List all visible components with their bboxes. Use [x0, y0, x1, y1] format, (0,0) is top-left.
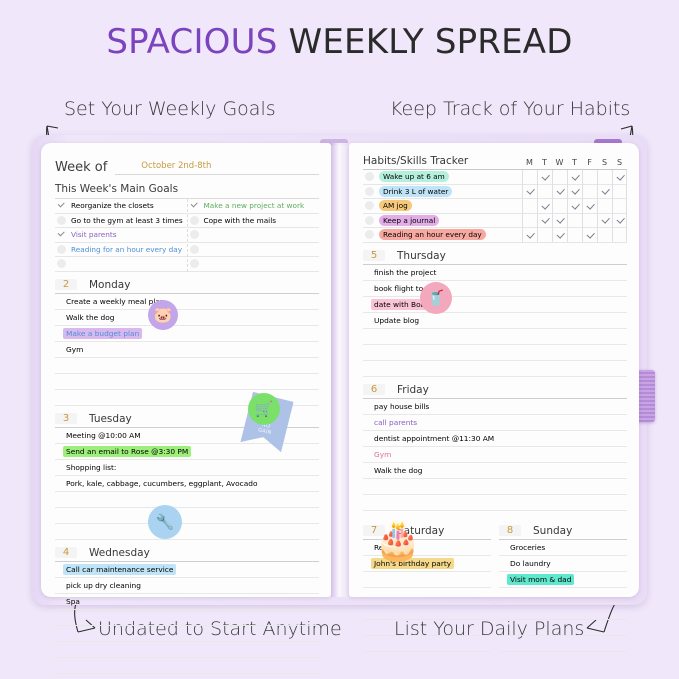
checkmark-icon[interactable]	[190, 201, 199, 210]
task-text: Shopping list:	[63, 462, 119, 473]
task-text: call parents	[371, 417, 420, 428]
habit-name: Keep a journal	[379, 215, 439, 226]
notebook: Week of October 2nd-8th This Week's Main…	[32, 135, 647, 605]
day-header: 6Friday	[363, 384, 627, 399]
day-name: Thursday	[397, 250, 446, 262]
task-text: Send an email to Rose @3:30 PM	[63, 446, 191, 457]
task-text	[371, 578, 377, 580]
habit-cell-empty[interactable]	[597, 228, 612, 243]
task-line[interactable]	[363, 495, 627, 511]
habit-label-cell: AM jog	[363, 200, 522, 211]
habit-day-initial: M	[522, 158, 537, 167]
checkbox-empty-icon[interactable]	[365, 201, 374, 210]
habit-check-cells	[522, 213, 627, 228]
habit-checkmark-icon[interactable]	[597, 184, 612, 199]
task-text	[507, 626, 513, 628]
task-line[interactable]: date with Bob	[363, 297, 627, 313]
task-text: Update blog	[371, 315, 422, 326]
weekend-col: 8SundayGroceriesDo laundryVisit mom & da…	[499, 518, 627, 652]
task-line[interactable]: Create a weekly meal plan	[55, 294, 319, 310]
task-line[interactable]: dentist appointment @11:30 AM	[363, 431, 627, 447]
habit-cell-empty[interactable]	[552, 170, 567, 185]
checkbox-empty-icon[interactable]	[57, 245, 66, 254]
day-number: 2	[55, 279, 77, 290]
habit-checkmark-icon[interactable]	[522, 228, 537, 243]
goal-label: Cope with the mails	[204, 216, 277, 225]
task-text	[371, 626, 377, 628]
habit-cell-empty[interactable]	[537, 184, 552, 199]
goal-row[interactable]: Visit parents	[55, 228, 187, 243]
checkbox-empty-icon[interactable]	[190, 230, 199, 239]
habit-cell-empty[interactable]	[582, 184, 597, 199]
task-text	[371, 485, 377, 487]
habit-row[interactable]: Wake up at 6 am	[363, 170, 627, 185]
habits-header: Habits/Skills Tracker MTWTFSS	[363, 155, 627, 170]
habit-label-cell: Drink 3 L of water	[363, 186, 522, 197]
habit-cell-empty[interactable]	[582, 213, 597, 228]
task-line[interactable]	[363, 329, 627, 345]
task-line[interactable]: Do laundry	[499, 556, 627, 572]
day-header: 8Sunday	[499, 525, 627, 540]
task-text	[371, 367, 377, 369]
habit-checkmark-icon[interactable]	[552, 228, 567, 243]
task-text: Walk the dog	[371, 465, 425, 476]
goal-label: Make a new project at work	[204, 201, 305, 210]
task-text	[371, 610, 377, 612]
task-line[interactable]: Call car maintenance service	[55, 562, 319, 578]
goal-row[interactable]: Reading for an hour every day	[55, 243, 187, 258]
task-line[interactable]: Pork, kale, cabbage, cucumbers, eggplant…	[55, 476, 319, 492]
goal-label: Visit parents	[71, 230, 117, 239]
habit-checkmark-icon[interactable]	[537, 199, 552, 214]
habit-checkmark-icon[interactable]	[582, 228, 597, 243]
task-text: Walk the dog	[63, 312, 117, 323]
page-title-rest: WEEKLY SPREAD	[289, 22, 573, 62]
habit-cell-empty[interactable]	[522, 213, 537, 228]
day-block-thursday: 5Thursdayfinish the projectbook flight t…	[363, 250, 627, 377]
task-line[interactable]	[55, 642, 319, 658]
goal-label: Go to the gym at least 3 times	[71, 216, 183, 225]
right-day-blocks: 5Thursdayfinish the projectbook flight t…	[363, 250, 627, 511]
habit-cell-empty[interactable]	[552, 199, 567, 214]
day-lines: finish the projectbook flight to LAdate …	[363, 265, 627, 377]
checkbox-empty-icon[interactable]	[365, 230, 374, 239]
habit-checkmark-icon[interactable]	[537, 170, 552, 185]
goal-row[interactable]	[188, 257, 320, 272]
habit-name: AM jog	[379, 200, 412, 211]
habit-day-initial: S	[612, 158, 627, 167]
happy-birthday-cake-sticker: 🎂	[370, 518, 426, 564]
task-line[interactable]	[363, 572, 491, 588]
habit-checkmark-icon[interactable]	[597, 213, 612, 228]
habit-checkmark-icon[interactable]	[552, 213, 567, 228]
day-name: Sunday	[533, 525, 572, 537]
habit-day-initial: F	[582, 158, 597, 167]
task-line[interactable]: Walk the dog	[363, 463, 627, 479]
goal-row[interactable]	[55, 257, 187, 272]
shopping-cart-sticker: 🛒	[248, 393, 280, 425]
task-line[interactable]: book flight to LA	[363, 281, 627, 297]
goal-row[interactable]	[188, 228, 320, 243]
task-text: Spa	[63, 596, 83, 607]
day-block-wednesday: 4WednesdayCall car maintenance servicepi…	[55, 547, 319, 674]
task-text	[371, 351, 377, 353]
checkmark-icon[interactable]	[57, 230, 66, 239]
task-line[interactable]: Gym	[55, 342, 319, 358]
task-line[interactable]	[55, 358, 319, 374]
day-lines: GroceriesDo laundryVisit mom & dad	[499, 540, 627, 652]
task-text: Call car maintenance service	[63, 564, 176, 575]
task-line[interactable]: Update blog	[363, 313, 627, 329]
habit-day-initial: T	[567, 158, 582, 167]
task-line[interactable]: pick up dry cleaning	[55, 578, 319, 594]
task-text: pay house bills	[371, 401, 432, 412]
checkbox-empty-icon[interactable]	[365, 216, 374, 225]
task-text	[63, 648, 69, 650]
task-line[interactable]	[55, 626, 319, 642]
task-line[interactable]: Groceries	[499, 540, 627, 556]
task-line[interactable]	[55, 374, 319, 390]
task-text: Meeting @10:00 AM	[63, 430, 144, 441]
habits-rows: Wake up at 6 amDrink 3 L of waterAM jogK…	[363, 170, 627, 243]
habit-checkmark-icon[interactable]	[612, 213, 627, 228]
task-text	[63, 632, 69, 634]
week-of-label: Week of	[55, 160, 107, 175]
day-header: 4Wednesday	[55, 547, 319, 562]
goals-column-right: Make a new project at workCope with the …	[188, 199, 320, 272]
habit-check-cells	[522, 199, 627, 214]
day-number: 3	[55, 413, 77, 424]
book-spine	[331, 143, 349, 597]
habit-checkmark-icon[interactable]	[552, 184, 567, 199]
day-name: Wednesday	[89, 547, 150, 559]
habit-row[interactable]: AM jog	[363, 199, 627, 214]
task-text	[371, 335, 377, 337]
checkbox-empty-icon[interactable]	[190, 216, 199, 225]
habit-check-cells	[522, 170, 627, 185]
task-line[interactable]	[55, 524, 319, 540]
habit-checkmark-icon[interactable]	[522, 184, 537, 199]
task-text: Visit mom & dad	[507, 574, 574, 585]
goal-row[interactable]: Reorganize the closets	[55, 199, 187, 214]
day-number: 5	[363, 250, 385, 261]
goal-row[interactable]	[188, 243, 320, 258]
goal-label: Reading for an hour every day	[71, 245, 182, 254]
habit-cell-empty[interactable]	[612, 228, 627, 243]
task-text	[371, 501, 377, 503]
task-line[interactable]: Visit mom & dad	[499, 572, 627, 588]
habit-label-cell: Wake up at 6 am	[363, 171, 522, 182]
task-line[interactable]	[499, 588, 627, 604]
habit-name: Wake up at 6 am	[379, 171, 449, 182]
task-text	[63, 514, 69, 516]
task-text	[63, 396, 69, 398]
task-line[interactable]: Make a budget plan	[55, 326, 319, 342]
habit-day-initial: T	[537, 158, 552, 167]
goal-row[interactable]: Make a new project at work	[188, 199, 320, 214]
day-name: Monday	[89, 279, 130, 291]
task-text	[507, 594, 513, 596]
habit-cell-empty[interactable]	[582, 170, 597, 185]
left-page: Week of October 2nd-8th This Week's Main…	[41, 143, 331, 597]
checkbox-empty-icon[interactable]	[365, 172, 374, 181]
task-line[interactable]: finish the project	[363, 265, 627, 281]
day-block-monday: 2MondayCreate a weekly meal planWalk the…	[55, 279, 319, 406]
habit-checkmark-icon[interactable]	[567, 184, 582, 199]
task-line[interactable]	[363, 636, 491, 652]
task-text	[63, 498, 69, 500]
day-number: 8	[499, 525, 521, 536]
task-text	[63, 664, 69, 666]
week-of-row: Week of October 2nd-8th	[55, 155, 319, 175]
habit-row[interactable]: Drink 3 L of water	[363, 185, 627, 200]
task-line[interactable]	[499, 604, 627, 620]
checkbox-empty-icon[interactable]	[57, 259, 66, 268]
habit-row[interactable]: Reading an hour every day	[363, 228, 627, 243]
goals-column-left: Reorganize the closetsGo to the gym at l…	[55, 199, 188, 272]
piggy-bank-sticker: 🐷	[148, 300, 178, 330]
habit-cell-empty[interactable]	[567, 228, 582, 243]
task-line[interactable]	[499, 636, 627, 652]
habit-checkmark-icon[interactable]	[582, 199, 597, 214]
habits-day-initials: MTWTFSS	[522, 158, 627, 167]
task-text: Groceries	[507, 542, 548, 553]
page-title-accent: SPACIOUS	[106, 22, 277, 62]
habits-heading: Habits/Skills Tracker	[363, 155, 522, 167]
task-text: Pork, kale, cabbage, cucumbers, eggplant…	[63, 478, 260, 489]
task-text: pick up dry cleaning	[63, 580, 144, 591]
task-text: finish the project	[371, 267, 439, 278]
task-text	[63, 364, 69, 366]
task-line[interactable]: Spa	[55, 594, 319, 610]
habit-cell-empty[interactable]	[612, 184, 627, 199]
day-block-sunday: 8SundayGroceriesDo laundryVisit mom & da…	[499, 525, 627, 652]
wrench-sticker: 🔧	[148, 505, 182, 539]
task-line[interactable]: Gym	[363, 447, 627, 463]
task-line[interactable]: call parents	[363, 415, 627, 431]
task-line[interactable]	[363, 361, 627, 377]
habit-cell-empty[interactable]	[567, 213, 582, 228]
task-text	[507, 610, 513, 612]
task-text: Gym	[63, 344, 86, 355]
habit-cell-empty[interactable]	[597, 199, 612, 214]
habit-check-cells	[522, 228, 627, 243]
habit-cell-empty[interactable]	[612, 199, 627, 214]
week-of-field[interactable]: October 2nd-8th	[115, 155, 319, 175]
task-text	[63, 616, 69, 618]
habit-cell-empty[interactable]	[597, 170, 612, 185]
task-line[interactable]: Shopping list:	[55, 460, 319, 476]
task-text	[371, 642, 377, 644]
habit-row[interactable]: Keep a journal	[363, 214, 627, 229]
page-title: SPACIOUS WEEKLY SPREAD	[0, 22, 679, 62]
checkmark-icon[interactable]	[57, 201, 66, 210]
habit-checkmark-icon[interactable]	[612, 170, 627, 185]
task-line[interactable]: pay house bills	[363, 399, 627, 415]
task-text: Make a budget plan	[63, 328, 142, 339]
checkbox-empty-icon[interactable]	[190, 259, 199, 268]
checkbox-empty-icon[interactable]	[365, 187, 374, 196]
day-lines: Create a weekly meal planWalk the dogMak…	[55, 294, 319, 406]
task-text: dentist appointment @11:30 AM	[371, 433, 497, 444]
task-line[interactable]	[363, 479, 627, 495]
habit-name: Reading an hour every day	[379, 229, 486, 240]
habit-cell-empty[interactable]	[522, 170, 537, 185]
day-number: 6	[363, 384, 385, 395]
task-text	[63, 380, 69, 382]
task-line[interactable]	[363, 345, 627, 361]
task-text	[63, 530, 69, 532]
day-header: 2Monday	[55, 279, 319, 294]
habit-checkmark-icon[interactable]	[567, 170, 582, 185]
checkbox-empty-icon[interactable]	[57, 216, 66, 225]
habit-day-initial: S	[597, 158, 612, 167]
left-day-blocks: 2MondayCreate a weekly meal planWalk the…	[55, 279, 319, 674]
task-text	[371, 594, 377, 596]
task-line[interactable]: Walk the dog	[55, 310, 319, 326]
habit-cell-empty[interactable]	[522, 199, 537, 214]
habit-label-cell: Keep a journal	[363, 215, 522, 226]
day-name: Tuesday	[89, 413, 132, 425]
task-line[interactable]	[55, 658, 319, 674]
task-line[interactable]	[55, 508, 319, 524]
task-line[interactable]	[363, 620, 491, 636]
task-line[interactable]	[499, 620, 627, 636]
task-line[interactable]	[55, 492, 319, 508]
habit-name: Drink 3 L of water	[379, 186, 452, 197]
day-header: 5Thursday	[363, 250, 627, 265]
habit-checkmark-icon[interactable]	[567, 199, 582, 214]
checkbox-empty-icon[interactable]	[190, 245, 199, 254]
habit-check-cells	[522, 184, 627, 199]
day-lines: Call car maintenance servicepick up dry …	[55, 562, 319, 674]
goal-row[interactable]: Go to the gym at least 3 times	[55, 214, 187, 229]
habit-checkmark-icon[interactable]	[537, 213, 552, 228]
habit-day-initial: W	[552, 158, 567, 167]
callout-set-weekly-goals: Set Your Weekly Goals	[64, 98, 276, 120]
goals-grid: Reorganize the closetsGo to the gym at l…	[55, 199, 319, 272]
week-of-value: October 2nd-8th	[115, 161, 211, 171]
habit-label-cell: Reading an hour every day	[363, 229, 522, 240]
callout-track-habits: Keep Track of Your Habits	[390, 98, 630, 120]
day-lines: pay house billscall parentsdentist appoi…	[363, 399, 627, 511]
day-number: 4	[55, 547, 77, 558]
day-name: Friday	[397, 384, 429, 396]
task-text: Do laundry	[507, 558, 554, 569]
habit-cell-empty[interactable]	[537, 228, 552, 243]
goals-heading: This Week's Main Goals	[55, 183, 319, 199]
goal-label: Reorganize the closets	[71, 201, 154, 210]
goal-row[interactable]: Cope with the mails	[188, 214, 320, 229]
task-text: Gym	[371, 449, 394, 460]
task-text	[507, 642, 513, 644]
task-line[interactable]	[55, 610, 319, 626]
task-line[interactable]	[363, 604, 491, 620]
coffee-cup-sticker: 🥤	[420, 282, 452, 314]
day-block-friday: 6Fridaypay house billscall parentsdentis…	[363, 384, 627, 511]
task-line[interactable]	[363, 588, 491, 604]
